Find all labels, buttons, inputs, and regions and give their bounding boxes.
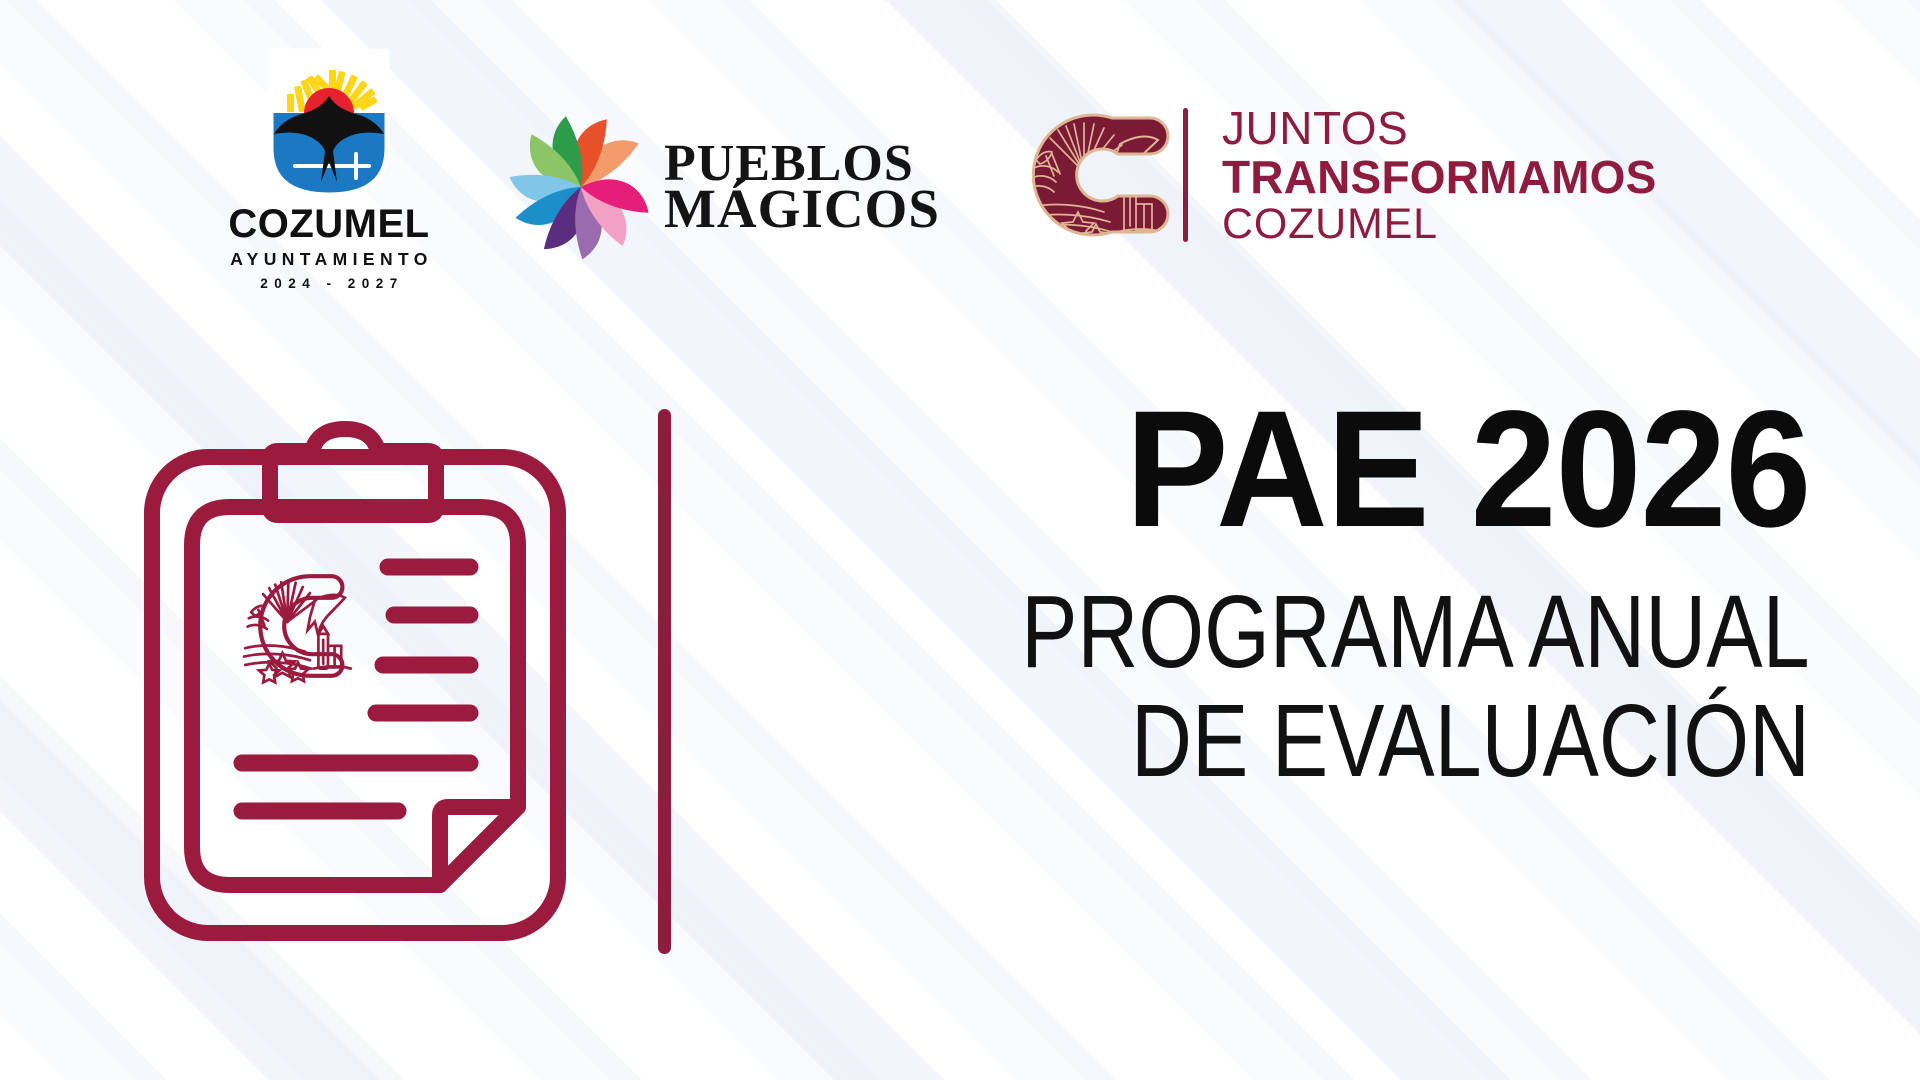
hero-text-block: PAE 2026 PROGRAMA ANUAL DE EVALUACIÓN: [700, 390, 1810, 793]
hero-vertical-divider: [658, 409, 671, 954]
logo-cozumel-ayuntamiento: COZUMEL AYUNTAMIENTO 2024 - 2027: [214, 48, 444, 290]
logo-strip: COZUMEL AYUNTAMIENTO 2024 - 2027: [0, 0, 1920, 300]
juntos-line-1: JUNTOS: [1222, 105, 1656, 151]
cozumel-line-3: COZUMEL: [1222, 203, 1656, 246]
cozumel-shield-icon: [268, 48, 390, 198]
logo-divider-rule: [1183, 108, 1188, 242]
cozumel-period: 2024 - 2027: [254, 277, 404, 291]
logo-juntos-transformamos-cozumel: JUNTOS TRANSFORMAMOS COZUMEL: [1000, 100, 1656, 250]
pueblos-magicos-line-2: MÁGICOS: [664, 185, 940, 233]
cozumel-wordmark: COZUMEL: [228, 204, 429, 244]
subtitle-line-1: PROGRAMA ANUAL: [1021, 579, 1810, 684]
hero-section: PAE 2026 PROGRAMA ANUAL DE EVALUACIÓN: [0, 390, 1920, 990]
cozumel-c-emblem-icon: [1000, 100, 1175, 250]
clipboard-c-emblem: [244, 576, 351, 682]
juntos-transformamos-wordmark: JUNTOS TRANSFORMAMOS COZUMEL: [1222, 105, 1656, 246]
logo-pueblos-magicos: PUEBLOS MÁGICOS: [510, 112, 940, 262]
pueblos-magicos-pinwheel-icon: [510, 112, 652, 262]
pueblos-magicos-wordmark: PUEBLOS MÁGICOS: [664, 141, 940, 233]
page-title: PAE 2026: [1125, 390, 1810, 549]
subtitle-line-2: DE EVALUACIÓN: [1131, 688, 1810, 793]
clipboard-document-icon: [140, 415, 570, 945]
transformamos-line-2: TRANSFORMAMOS: [1222, 154, 1656, 200]
cozumel-subtitle: AYUNTAMIENTO: [225, 251, 433, 269]
cover-page: COZUMEL AYUNTAMIENTO 2024 - 2027: [0, 0, 1920, 1080]
